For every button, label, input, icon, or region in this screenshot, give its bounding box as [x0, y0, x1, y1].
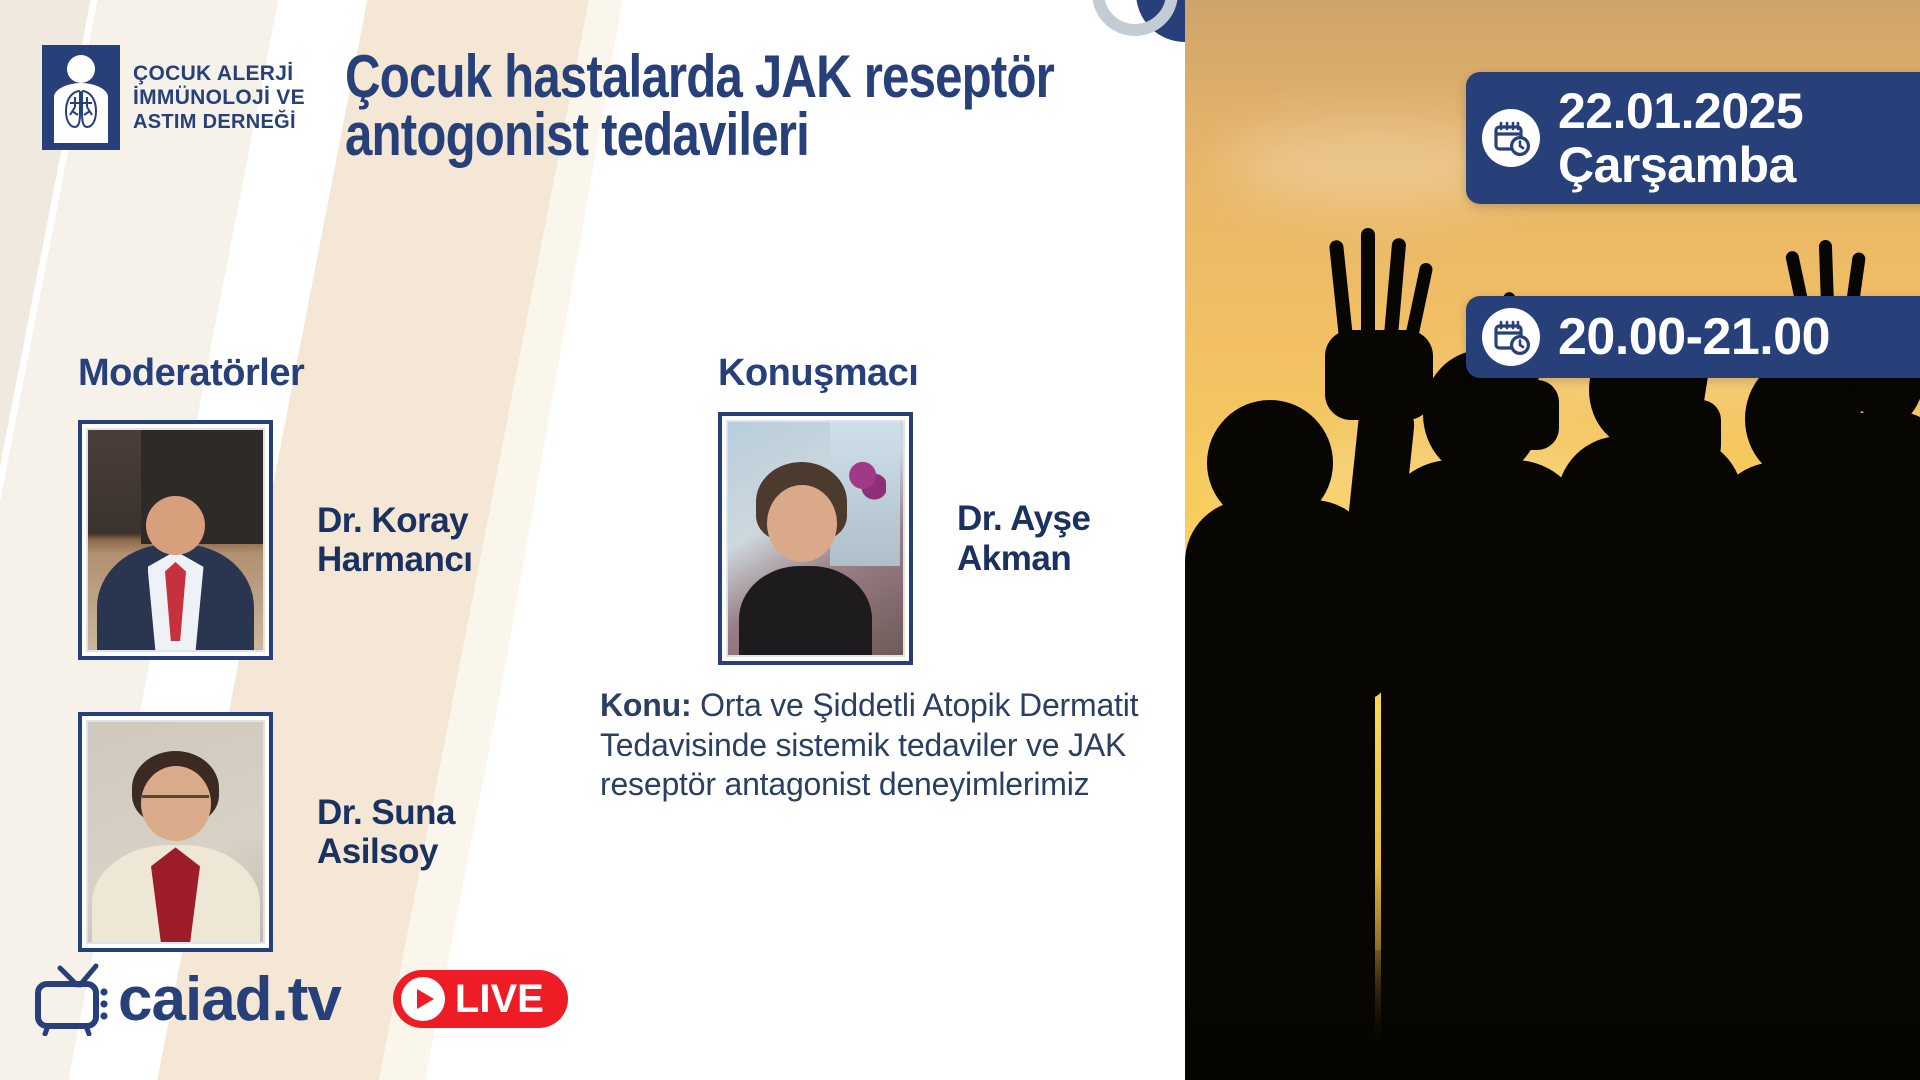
- name-line-1: Dr. Koray: [317, 501, 473, 540]
- date-value: 22.01.2025: [1558, 84, 1803, 138]
- logo-line-3: ASTIM DERNEĞİ: [133, 111, 305, 133]
- name-line-2: Asilsoy: [317, 832, 455, 871]
- brand-name[interactable]: caiad.tv: [118, 964, 341, 1035]
- photo-body: [739, 566, 872, 655]
- speaker-name: Dr. Ayşe Akman: [957, 499, 1091, 577]
- photo-koray-harmanci: [88, 430, 263, 650]
- photo-frame-inner: [86, 720, 265, 944]
- photo-frame: [78, 420, 273, 660]
- photo-glasses: [142, 795, 209, 813]
- page-title: Çocuk hastalarda JAK reseptör antogonist…: [345, 48, 1026, 163]
- photo-suna-asilsoy: [88, 722, 263, 942]
- moderator-name: Dr. Suna Asilsoy: [317, 793, 455, 871]
- topic-label: Konu:: [600, 687, 691, 723]
- photo-head: [767, 485, 837, 562]
- date-badge: 22.01.2025 Çarşamba: [1466, 72, 1920, 204]
- footer-brand: caiad.tv LIVE: [34, 962, 568, 1036]
- time-badge: 20.00-21.00: [1466, 296, 1920, 378]
- speaker-heading: Konuşmacı: [718, 352, 918, 395]
- name-line-2: Akman: [957, 539, 1091, 578]
- photo-ayse-akman: [728, 422, 903, 655]
- title-line-2: antogonist tedavileri: [345, 106, 1026, 164]
- photo-orchid: [847, 455, 886, 506]
- calendar-clock-icon: [1482, 109, 1540, 167]
- logo-line-1: ÇOCUK ALERJİ: [133, 62, 305, 86]
- live-label: LIVE: [455, 977, 544, 1022]
- live-badge[interactable]: LIVE: [393, 970, 568, 1028]
- photo-frame-inner: [86, 428, 265, 652]
- moderator-name: Dr. Koray Harmancı: [317, 501, 473, 579]
- name-line-2: Harmancı: [317, 540, 473, 579]
- photo-frame-inner: [726, 420, 905, 657]
- date-badge-text: 22.01.2025 Çarşamba: [1558, 84, 1803, 192]
- moderators-heading: Moderatörler: [78, 352, 304, 395]
- time-value: 20.00-21.00: [1558, 309, 1830, 365]
- moderator-card-koray-harmanci: Dr. Koray Harmancı: [78, 420, 473, 660]
- photo-frame: [718, 412, 913, 665]
- photo-frame: [78, 712, 273, 952]
- association-logo-text: ÇOCUK ALERJİ İMMÜNOLOJİ VE ASTIM DERNEĞİ: [133, 62, 305, 133]
- play-icon: [401, 977, 445, 1021]
- association-logo: ÇOCUK ALERJİ İMMÜNOLOJİ VE ASTIM DERNEĞİ: [42, 45, 305, 150]
- logo-line-2: İMMÜNOLOJİ VE: [133, 86, 305, 110]
- time-badge-text: 20.00-21.00: [1558, 309, 1830, 365]
- webinar-poster: ÇOCUK ALERJİ İMMÜNOLOJİ VE ASTIM DERNEĞİ…: [0, 0, 1920, 1080]
- name-line-1: Dr. Ayşe: [957, 499, 1091, 538]
- title-line-1: Çocuk hastalarda JAK reseptör: [345, 48, 1026, 106]
- television-icon: [34, 962, 122, 1036]
- weekday-value: Çarşamba: [1558, 138, 1803, 192]
- speaker-card-ayse-akman: Dr. Ayşe Akman: [718, 412, 1091, 665]
- moderator-card-suna-asilsoy: Dr. Suna Asilsoy: [78, 712, 455, 952]
- ground-silhouette: [1185, 950, 1920, 1080]
- topic-description: Konu: Orta ve Şiddetli Atopik Dermatit T…: [600, 686, 1190, 805]
- calendar-clock-icon: [1482, 308, 1540, 366]
- child-lungs-logo-icon: [42, 45, 120, 150]
- name-line-1: Dr. Suna: [317, 793, 455, 832]
